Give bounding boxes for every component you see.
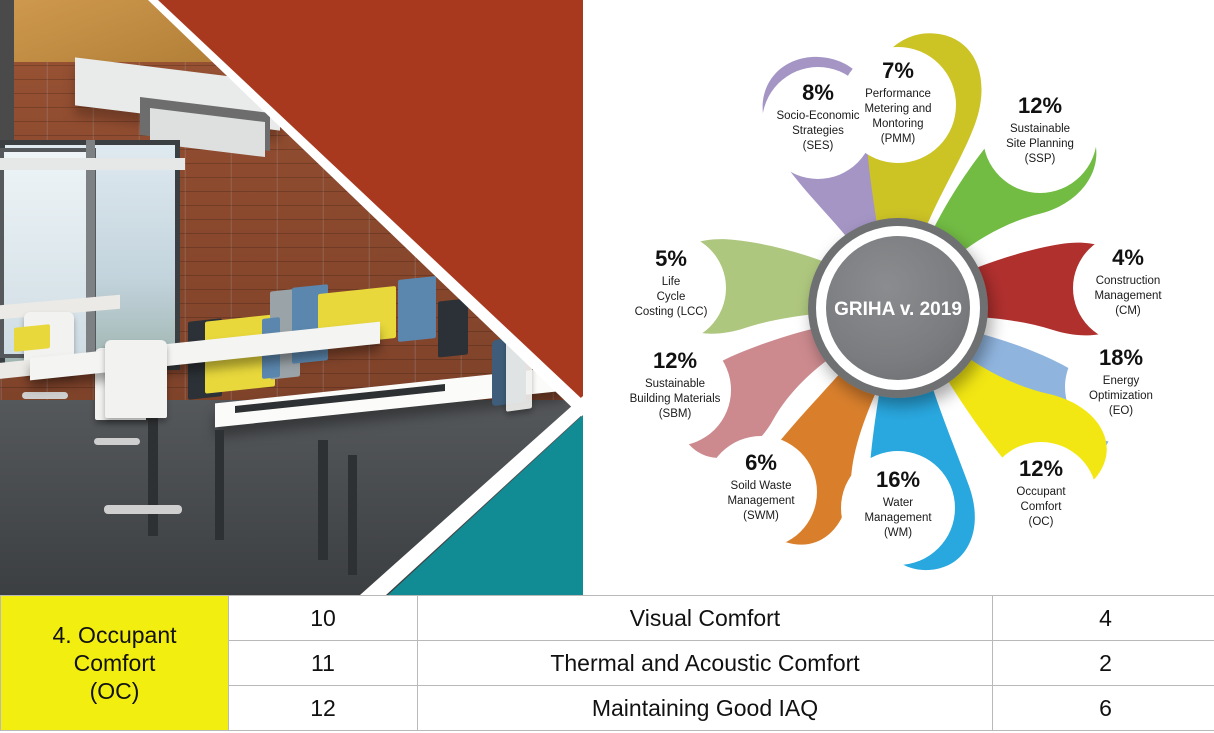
lcc-line-2: Cycle [657, 291, 686, 303]
lcc-line-1: Life [662, 276, 681, 288]
pmm-line-2: Metering and [864, 103, 931, 115]
cm-line-2: Management [1094, 290, 1162, 302]
category-line-3: (OC) [1, 677, 228, 705]
pmm-line-4: (PMM) [881, 133, 916, 145]
swm-line-2: Management [727, 495, 795, 507]
window-mullion [86, 140, 95, 370]
row-points: 2 [993, 641, 1214, 686]
eo-line-1: Energy [1103, 375, 1140, 387]
chair-base-2 [94, 438, 140, 445]
ssp-percent: 12% [1018, 93, 1062, 118]
row-number: 10 [229, 596, 418, 641]
row-criterion: Thermal and Acoustic Comfort [418, 641, 993, 686]
cm-percent: 4% [1112, 245, 1144, 270]
cm-line-3: (CM) [1115, 305, 1141, 317]
pmm-percent: 7% [882, 58, 914, 83]
ssp-line-1: Sustainable [1010, 123, 1070, 135]
eo-percent: 18% [1099, 345, 1143, 370]
top-section: GRIHA v. 2019 8% Socio-Economic Strategi… [0, 0, 1214, 595]
hub: GRIHA v. 2019 [808, 218, 988, 398]
desk-leg-2 [148, 406, 158, 536]
eo-line-3: (EO) [1109, 405, 1133, 417]
row-criterion: Maintaining Good IAQ [418, 686, 993, 731]
pmm-line-1: Performance [865, 88, 931, 100]
row-criterion: Visual Comfort [418, 596, 993, 641]
category-line-1: 4. Occupant [1, 621, 228, 649]
cm-line-1: Construction [1096, 275, 1161, 287]
ssp-line-3: (SSP) [1025, 153, 1056, 165]
desk-leg-3 [215, 430, 224, 540]
row-points: 6 [993, 686, 1214, 731]
swm-percent: 6% [745, 450, 777, 475]
row-points: 4 [993, 596, 1214, 641]
row-number: 12 [229, 686, 418, 731]
ses-line-3: (SES) [803, 140, 834, 152]
pmm-line-3: Montoring [872, 118, 923, 130]
oc-percent: 12% [1019, 456, 1063, 481]
divider-blue-3 [398, 276, 436, 342]
office-interior-photo [0, 0, 583, 595]
sbm-line-2: Building Materials [630, 393, 721, 405]
category-cell-occupant-comfort: 4. Occupant Comfort (OC) [1, 596, 229, 731]
oc-line-1: Occupant [1016, 486, 1066, 498]
hub-label: GRIHA v. 2019 [834, 299, 962, 320]
griha-petal-diagram: GRIHA v. 2019 8% Socio-Economic Strategi… [583, 0, 1214, 595]
window-sill [0, 158, 185, 170]
wm-percent: 16% [876, 467, 920, 492]
category-line-2: Comfort [1, 649, 228, 677]
divider-yellow-back [14, 324, 50, 352]
sbm-line-1: Sustainable [645, 378, 705, 390]
chair-base-3 [104, 505, 182, 514]
chair-front-1 [105, 340, 167, 418]
criteria-table: 4. Occupant Comfort (OC) 10 Visual Comfo… [0, 595, 1214, 731]
ses-line-1: Socio-Economic [776, 110, 859, 122]
monitor-2 [438, 298, 468, 357]
table-row: 4. Occupant Comfort (OC) 10 Visual Comfo… [1, 596, 1214, 641]
slide-page: GRIHA v. 2019 8% Socio-Economic Strategi… [0, 0, 1214, 733]
sbm-line-3: (SBM) [659, 408, 692, 420]
swm-line-3: (SWM) [743, 510, 779, 522]
swm-line-1: Soild Waste [731, 480, 792, 492]
criteria-table-wrapper: 4. Occupant Comfort (OC) 10 Visual Comfo… [0, 595, 1214, 733]
oc-line-3: (OC) [1029, 516, 1054, 528]
ses-percent: 8% [802, 80, 834, 105]
sbm-percent: 12% [653, 348, 697, 373]
wm-line-3: (WM) [884, 527, 912, 539]
row-number: 11 [229, 641, 418, 686]
lcc-line-3: Costing (LCC) [635, 306, 708, 318]
wm-line-1: Water [883, 497, 913, 509]
wm-line-2: Management [864, 512, 932, 524]
chair-base-1 [22, 392, 68, 399]
ses-line-2: Strategies [792, 125, 844, 137]
oc-line-2: Comfort [1021, 501, 1063, 513]
ssp-line-2: Site Planning [1006, 138, 1074, 150]
ceiling-shadow [0, 0, 14, 150]
eo-line-2: Optimization [1089, 390, 1153, 402]
lcc-percent: 5% [655, 246, 687, 271]
desk-leg-5 [348, 455, 357, 575]
petal-svg: GRIHA v. 2019 8% Socio-Economic Strategi… [583, 0, 1214, 595]
office-photo-panel [0, 0, 583, 595]
desk-leg-4 [318, 440, 328, 560]
